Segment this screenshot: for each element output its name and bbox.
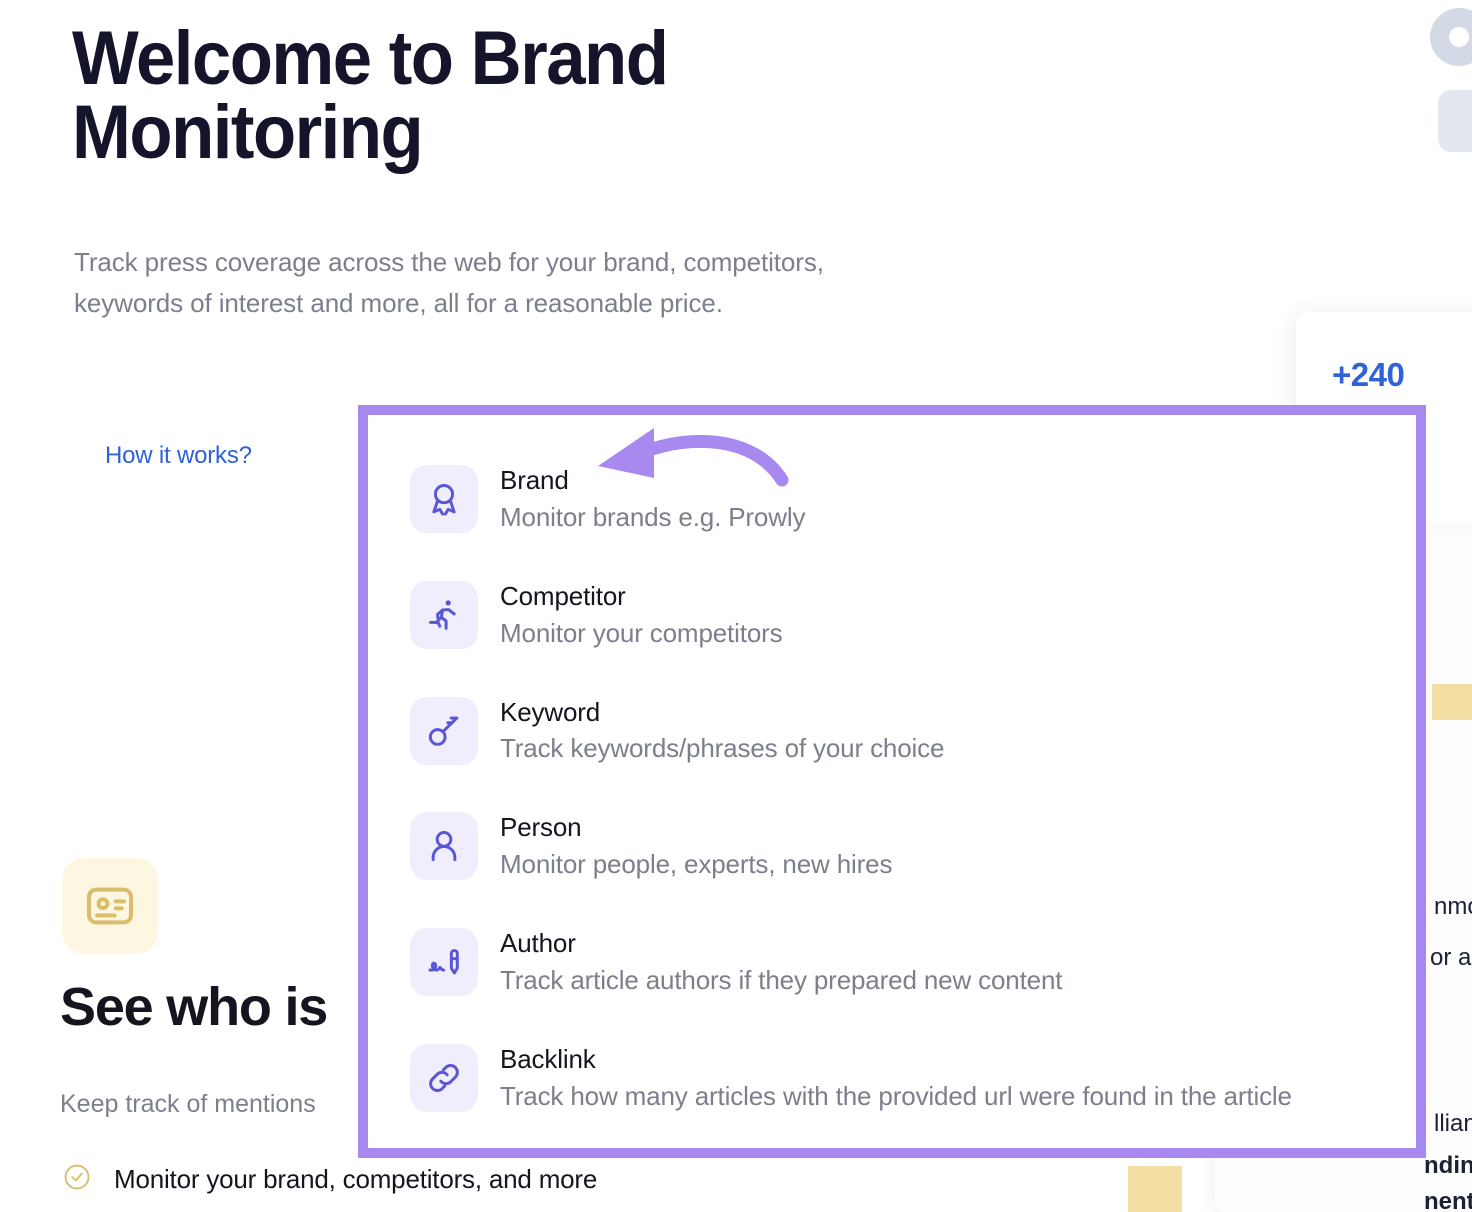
cutoff-text-fragment: nenta	[1424, 1188, 1472, 1212]
menu-item-label: Competitor	[500, 579, 783, 615]
menu-item-description: Monitor brands e.g. Prowly	[500, 499, 805, 536]
menu-item-description: Monitor people, experts, new hires	[500, 846, 892, 883]
menu-item-text: AuthorTrack article authors if they prep…	[500, 910, 1062, 999]
menu-item-label: Keyword	[500, 695, 944, 731]
plus-count-badge: +240	[1332, 356, 1404, 394]
menu-item-description: Track keywords/phrases of your choice	[500, 730, 944, 767]
menu-item-text: PersonMonitor people, experts, new hires	[500, 794, 892, 883]
cutoff-text-fragment: ndinq	[1424, 1152, 1472, 1180]
how-it-works-link[interactable]: How it works?	[105, 442, 252, 470]
page-subtitle: Track press coverage across the web for …	[74, 242, 894, 323]
menu-item-text: KeywordTrack keywords/phrases of your ch…	[500, 679, 944, 768]
menu-item-backlink[interactable]: BacklinkTrack how many articles with the…	[368, 1026, 1416, 1115]
menu-item-competitor[interactable]: CompetitorMonitor your competitors	[368, 563, 1416, 652]
id-card-icon	[62, 858, 158, 954]
menu-item-label: Person	[500, 810, 892, 846]
runner-icon	[410, 581, 478, 649]
menu-item-person[interactable]: PersonMonitor people, experts, new hires	[368, 794, 1416, 883]
person-icon	[410, 812, 478, 880]
menu-item-label: Author	[500, 926, 1062, 962]
section-heading: See who is	[60, 978, 327, 1037]
check-circle-icon	[62, 1162, 92, 1197]
cutoff-text-fragment: llian	[1434, 1110, 1472, 1138]
menu-item-text: BacklinkTrack how many articles with the…	[500, 1026, 1292, 1115]
menu-item-author[interactable]: AuthorTrack article authors if they prep…	[368, 910, 1416, 999]
monitoring-type-dropdown[interactable]: BrandMonitor brands e.g. ProwlyCompetito…	[358, 405, 1426, 1158]
menu-item-label: Brand	[500, 463, 805, 499]
circle-decoration-icon	[1430, 8, 1472, 66]
award-badge-icon	[410, 465, 478, 533]
cutoff-text-fragment: or a	[1430, 944, 1471, 972]
menu-item-description: Track how many articles with the provide…	[500, 1078, 1292, 1115]
tan-band-decoration	[1432, 684, 1472, 720]
signature-pen-icon	[410, 928, 478, 996]
menu-item-text: CompetitorMonitor your competitors	[500, 563, 783, 652]
key-icon	[410, 697, 478, 765]
menu-item-text: BrandMonitor brands e.g. Prowly	[500, 447, 805, 536]
menu-item-description: Track article authors if they prepared n…	[500, 962, 1062, 999]
app-screen: +240 Welcome to Brand Monitoring Track p…	[0, 0, 1472, 1212]
menu-item-brand[interactable]: BrandMonitor brands e.g. Prowly	[368, 447, 1416, 536]
menu-item-label: Backlink	[500, 1042, 1292, 1078]
monitoring-type-list: BrandMonitor brands e.g. ProwlyCompetito…	[368, 415, 1416, 1115]
page-title: Welcome to Brand Monitoring	[72, 22, 872, 169]
rounded-rect-decoration-icon	[1438, 90, 1472, 152]
feature-bullet-row: Monitor your brand, competitors, and mor…	[62, 1162, 597, 1197]
menu-item-description: Monitor your competitors	[500, 615, 783, 652]
menu-item-keyword[interactable]: KeywordTrack keywords/phrases of your ch…	[368, 679, 1416, 768]
link-chain-icon	[410, 1044, 478, 1112]
section-subheading: Keep track of mentions	[60, 1090, 316, 1119]
cutoff-text-fragment: nmo	[1434, 893, 1472, 921]
feature-bullet-text: Monitor your brand, competitors, and mor…	[114, 1164, 597, 1195]
tan-bar-decoration	[1128, 1166, 1182, 1212]
